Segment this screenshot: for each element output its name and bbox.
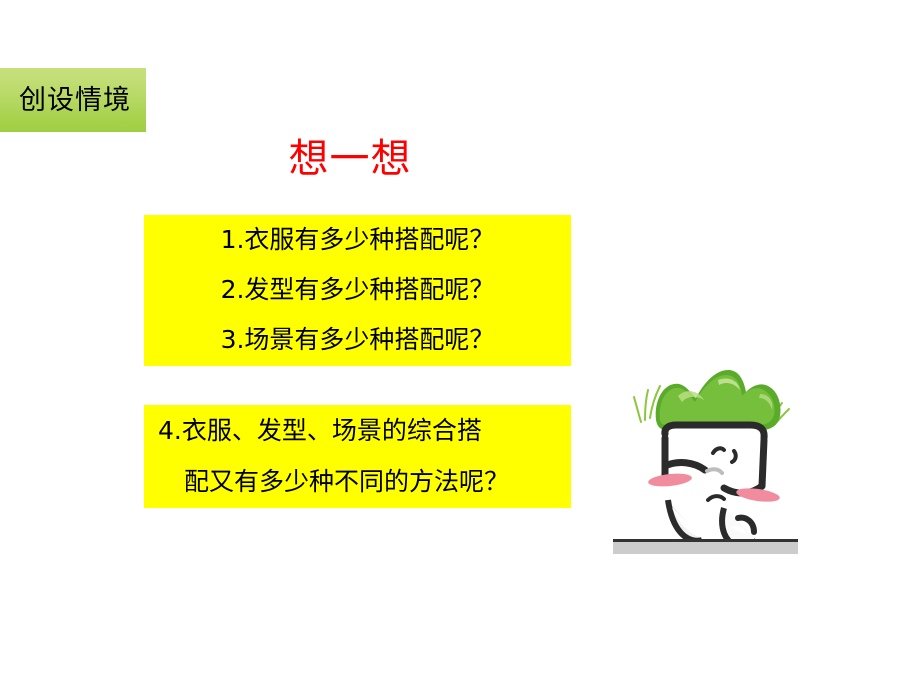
- question-item: 2.发型有多少种搭配呢？: [144, 265, 571, 315]
- question-item: 3.场景有多少种搭配呢？: [144, 315, 571, 365]
- question-item: 1.衣服有多少种搭配呢？: [144, 215, 571, 265]
- section-banner-label: 创设情境: [15, 87, 131, 114]
- question-item: 4.衣服、发型、场景的综合搭: [144, 405, 571, 456]
- slide-canvas: 创设情境 想一想 1.衣服有多少种搭配呢？ 2.发型有多少种搭配呢？ 3.场景有…: [0, 0, 900, 675]
- thinking-radish-icon: [612, 358, 802, 554]
- page-title: 想一想: [0, 138, 700, 180]
- question-panel-summary: 4.衣服、发型、场景的综合搭 配又有多少种不同的方法呢？: [144, 405, 571, 508]
- question-panel-primary: 1.衣服有多少种搭配呢？ 2.发型有多少种搭配呢？ 3.场景有多少种搭配呢？: [144, 215, 571, 366]
- section-banner-tab[interactable]: 创设情境: [0, 68, 146, 132]
- ground-strip: [613, 539, 798, 554]
- question-item: 配又有多少种不同的方法呢？: [144, 456, 571, 507]
